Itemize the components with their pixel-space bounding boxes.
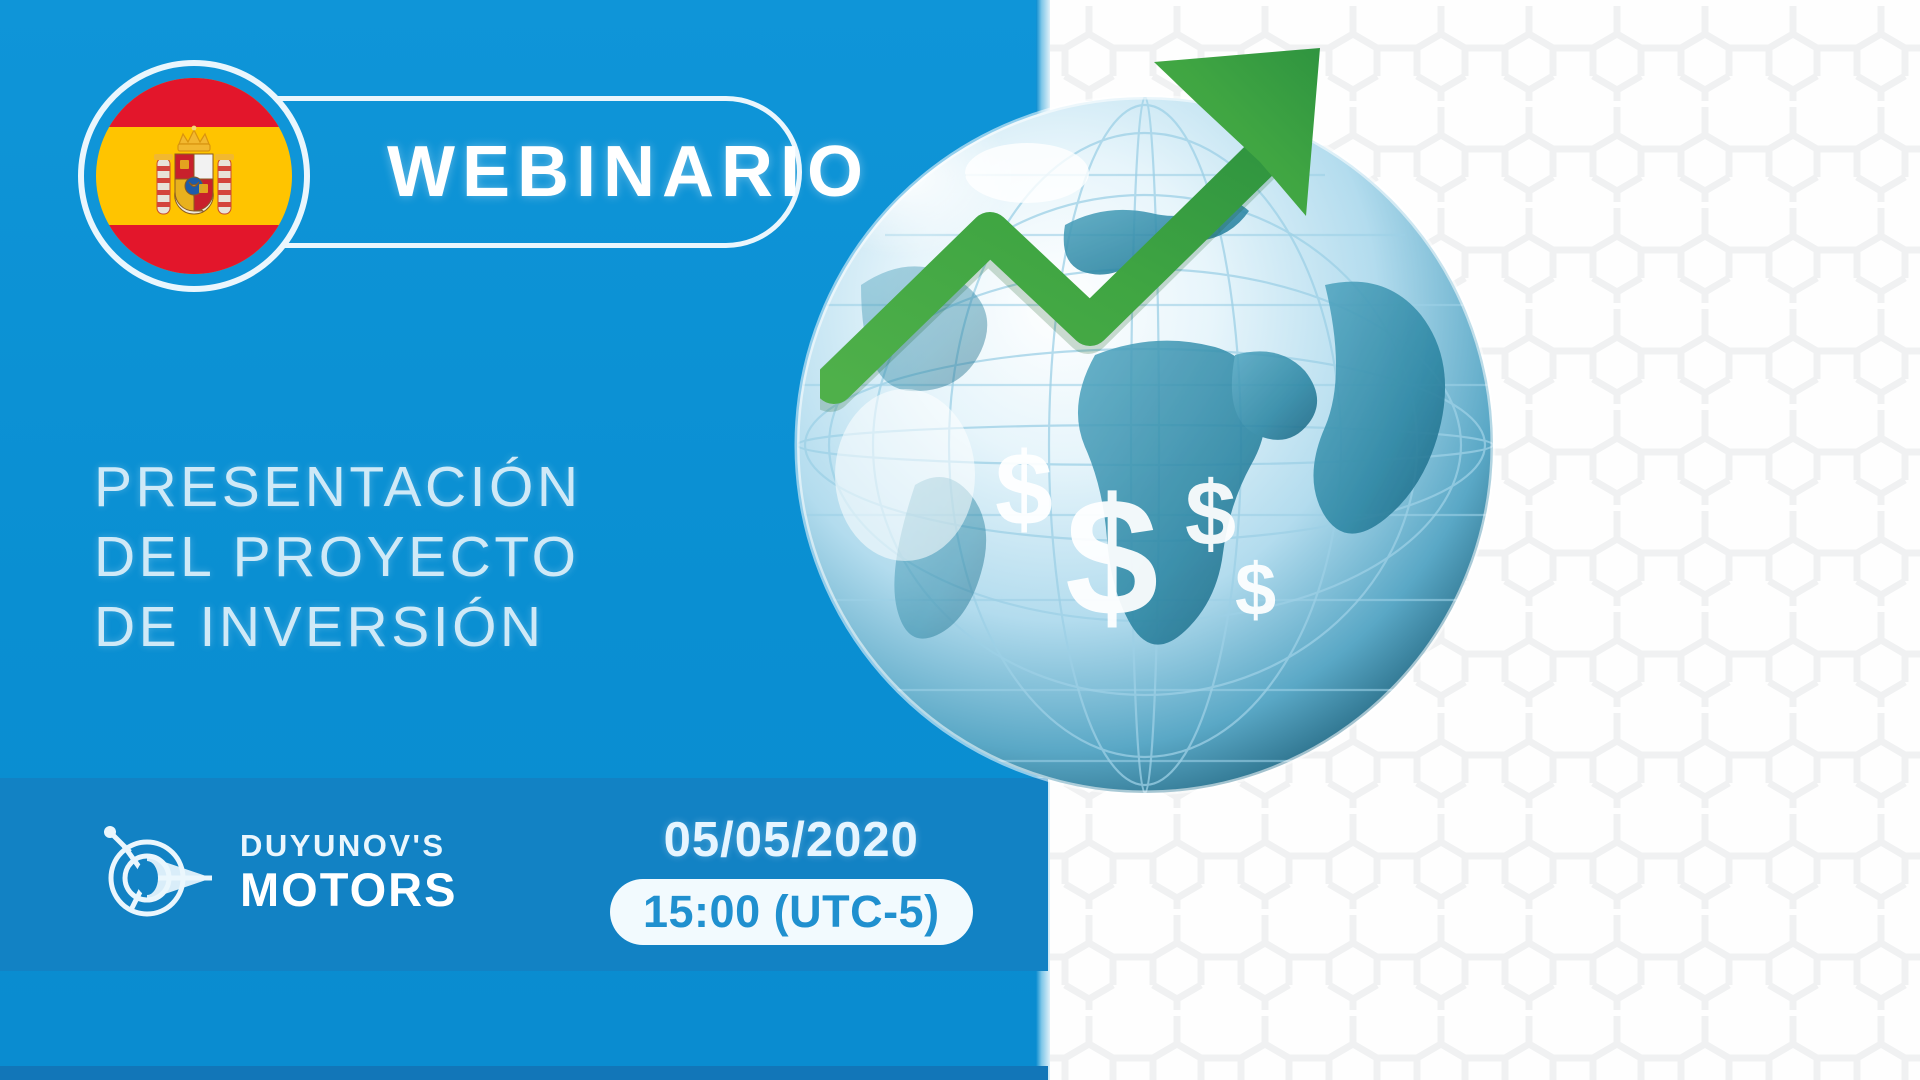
event-subtitle: PRESENTACIÓN DEL PROYECTO DE INVERSIÓN — [94, 452, 582, 662]
dollar-symbol: $ — [1235, 548, 1276, 631]
subtitle-line-3: DE INVERSIÓN — [94, 592, 582, 662]
dollar-symbol: $ — [1065, 463, 1158, 651]
spain-flag-circle-icon — [78, 60, 310, 292]
flag-stripe-bottom — [96, 225, 292, 274]
duyunovs-motors-logo-icon — [100, 816, 218, 926]
event-time-badge: 15:00 (UTC-5) — [610, 879, 973, 945]
brand-name-top: DUYUNOV'S — [240, 830, 457, 861]
subtitle-line-1: PRESENTACIÓN — [94, 452, 582, 522]
brand-name-bottom: MOTORS — [240, 866, 457, 913]
spain-coat-of-arms-icon — [151, 124, 237, 228]
subtitle-line-2: DEL PROYECTO — [94, 522, 582, 592]
flag-stripe-top — [96, 78, 292, 127]
brand-logo-group: DUYUNOV'S MOTORS — [100, 816, 457, 926]
flag-disc — [96, 78, 292, 274]
bottom-accent-strip — [0, 1066, 1048, 1080]
green-growth-arrow-icon — [820, 40, 1540, 480]
brand-name: DUYUNOV'S MOTORS — [240, 830, 457, 913]
